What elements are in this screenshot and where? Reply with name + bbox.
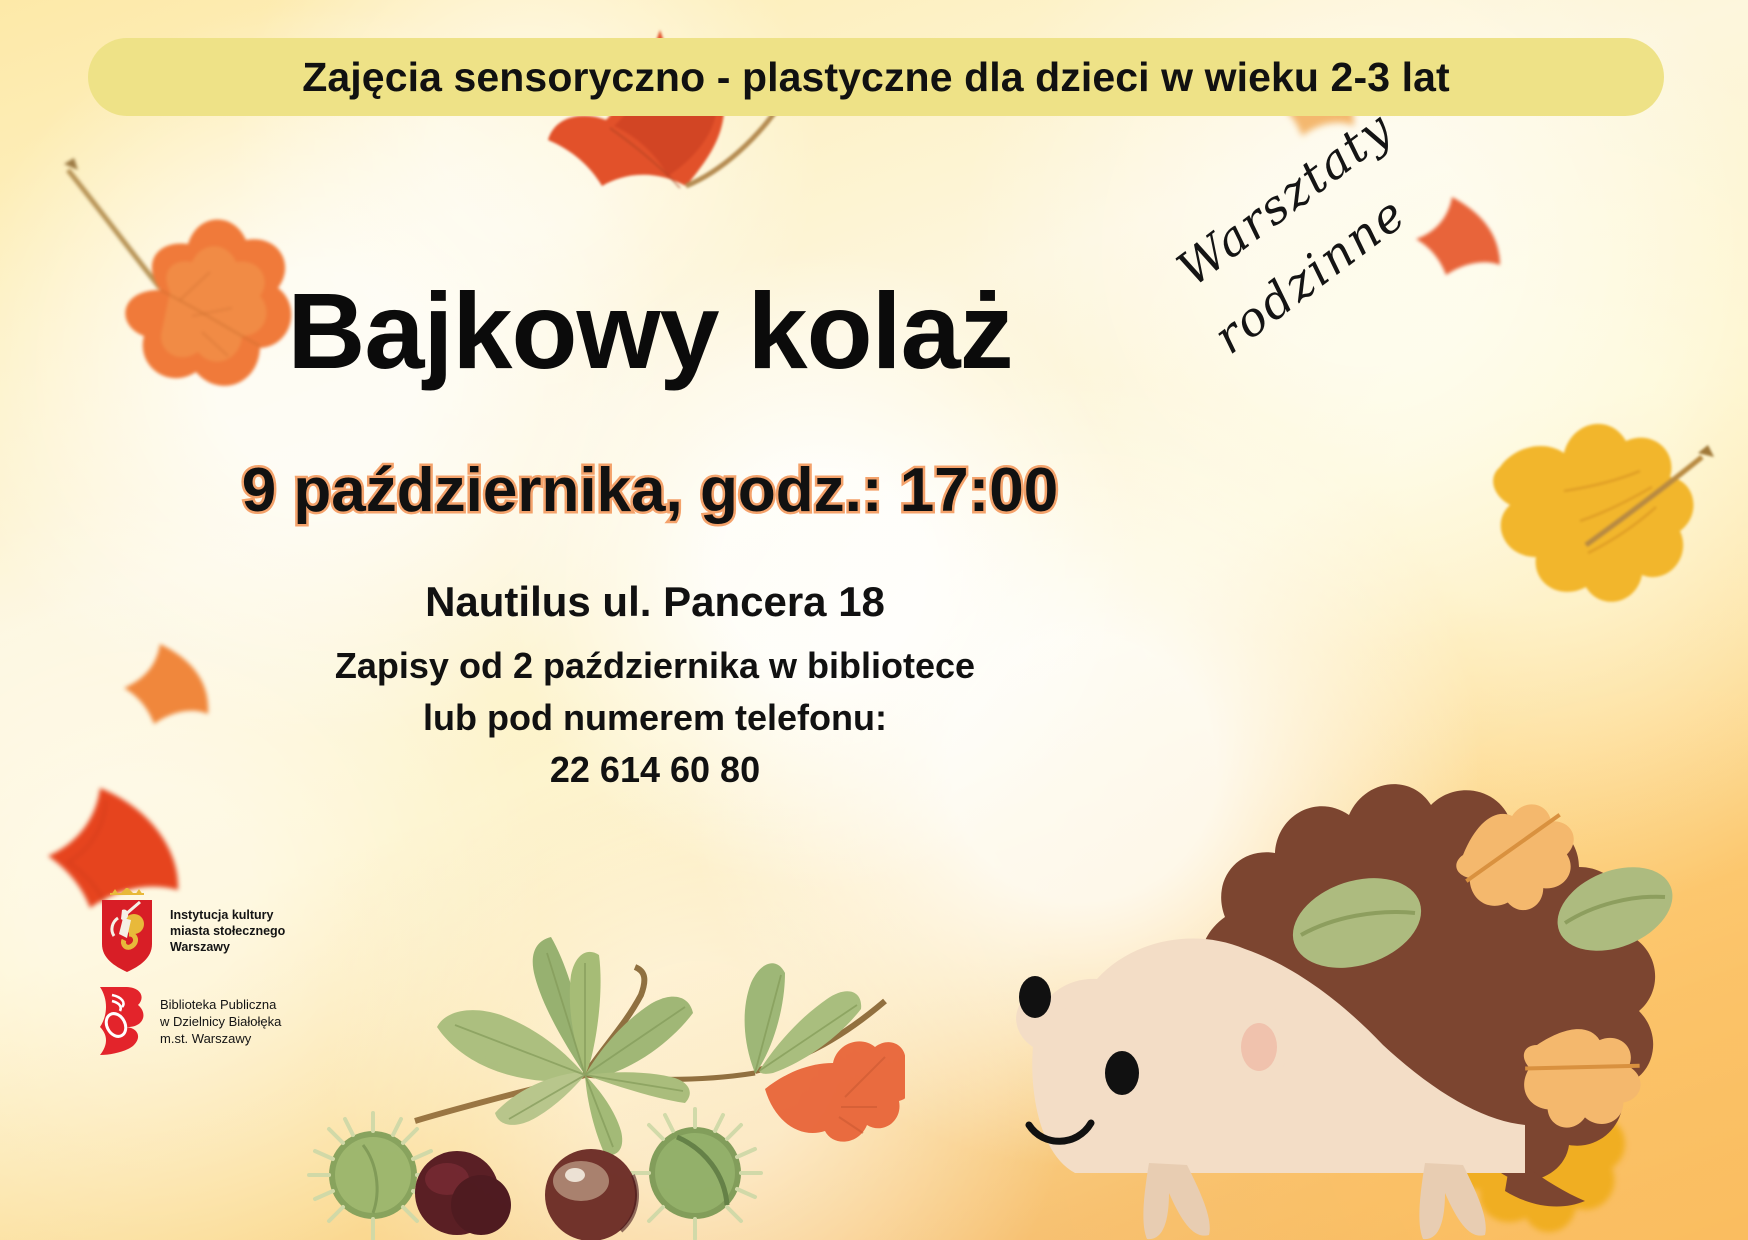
warsaw-coat-of-arms-icon bbox=[96, 888, 158, 974]
hedgehog-illustration bbox=[925, 655, 1725, 1240]
warsaw-city-logo-text: Instytucja kultury miasta stołecznego Wa… bbox=[170, 907, 285, 955]
poster-canvas: Zajęcia sensoryczno - plastyczne dla dzi… bbox=[0, 0, 1748, 1240]
event-venue: Nautilus ul. Pancera 18 bbox=[0, 578, 1310, 626]
chestnut-branch-illustration bbox=[285, 875, 905, 1240]
warsaw-city-logo: Instytucja kultury miasta stołecznego Wa… bbox=[96, 888, 285, 974]
banner-text: Zajęcia sensoryczno - plastyczne dla dzi… bbox=[302, 54, 1450, 101]
library-b-mark-icon bbox=[96, 985, 148, 1057]
autumn-leaf-right-yellow bbox=[1440, 395, 1740, 645]
workshop-script-label: Warsztaty rodzinne bbox=[1103, 49, 1597, 521]
event-date-time: 9 października, godz.: 17:00 bbox=[0, 455, 1300, 526]
public-library-logo: Biblioteka Publiczna w Dzielnicy Białołę… bbox=[96, 985, 281, 1057]
public-library-logo-text: Biblioteka Publiczna w Dzielnicy Białołę… bbox=[160, 996, 281, 1047]
